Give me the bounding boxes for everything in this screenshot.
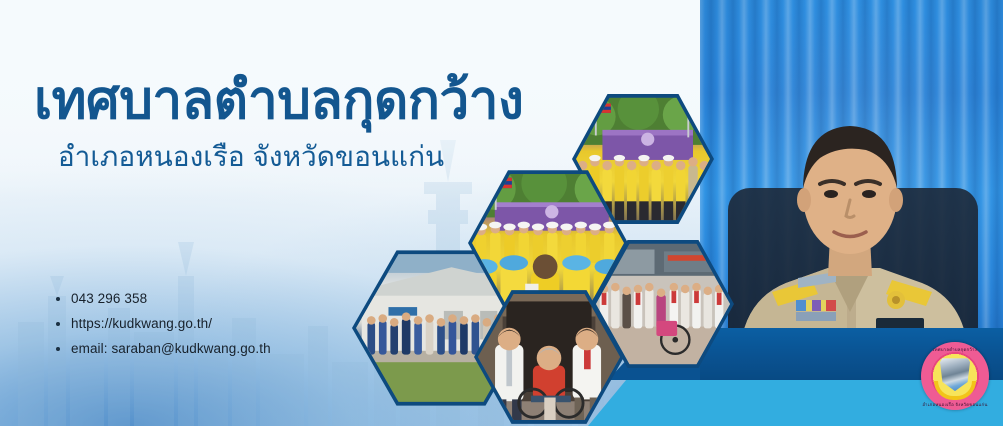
- contact-item-email[interactable]: email: saraban@kudkwang.go.th: [56, 341, 271, 356]
- municipal-seal[interactable]: เทศบาลตำบลกุดกว้าง อำเภอหนองเรือ จังหวัด…: [921, 342, 989, 410]
- contact-website-text: https://kudkwang.go.th/: [71, 316, 212, 331]
- seal-ring-text-top: เทศบาลตำบลกุดกว้าง: [921, 346, 989, 353]
- seal-ring-text-bottom: อำเภอหนองเรือ จังหวัดขอนแก่น: [921, 401, 989, 408]
- banner-root: เทศบาลตำบลกุดกว้าง อำเภอหนองเรือ จังหวัด…: [0, 0, 1003, 426]
- bullet-dot-icon: [56, 347, 60, 351]
- contact-email-text: email: saraban@kudkwang.go.th: [71, 341, 271, 356]
- contact-item-phone[interactable]: 043 296 358: [56, 291, 271, 306]
- contact-list: 043 296 358 https://kudkwang.go.th/ emai…: [56, 291, 271, 366]
- contact-item-website[interactable]: https://kudkwang.go.th/: [56, 316, 271, 331]
- seal-laurel-icon: [934, 381, 976, 400]
- title-block: เทศบาลตำบลกุดกว้าง อำเภอหนองเรือ จังหวัด…: [0, 72, 620, 179]
- contact-phone-text: 043 296 358: [71, 291, 147, 306]
- bullet-dot-icon: [56, 322, 60, 326]
- bullet-dot-icon: [56, 297, 60, 301]
- page-title: เทศบาลตำบลกุดกว้าง: [0, 72, 620, 129]
